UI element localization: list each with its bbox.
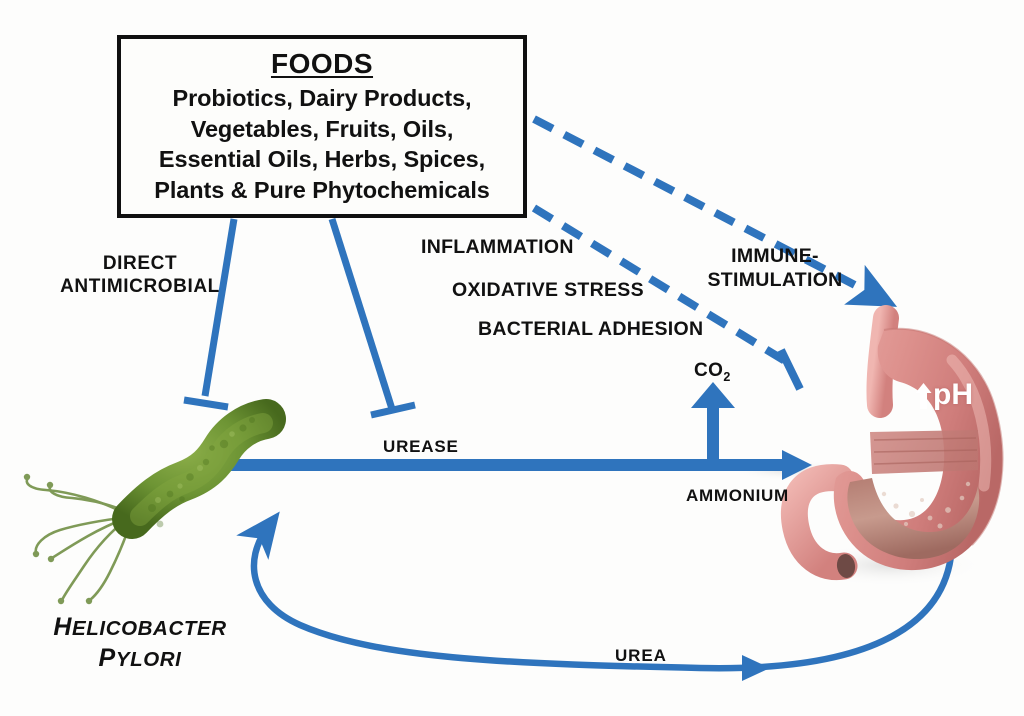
up-arrow-icon — [915, 383, 932, 409]
label-genus-initial: H — [53, 613, 72, 641]
diagram-canvas: FOODS Probiotics, Dairy Products, Vegeta… — [0, 0, 1024, 716]
connector-branch-to-co2 — [691, 382, 735, 468]
connector-foods-to-urease — [332, 219, 415, 415]
label-inflammation: INFLAMMATION — [421, 236, 574, 259]
label-ph-increase: pH — [915, 378, 973, 412]
label-immune-stimulation-line2: STIMULATION — [700, 269, 850, 293]
label-helicobacter-pylori: HELICOBACTER PYLORI — [25, 612, 255, 675]
label-direct-antimicrobial-line2: ANTIMICROBIAL — [50, 275, 230, 298]
foods-line-1: Probiotics, Dairy Products, — [154, 83, 489, 114]
foods-box: FOODS Probiotics, Dairy Products, Vegeta… — [117, 35, 527, 218]
label-direct-antimicrobial: DIRECT ANTIMICROBIAL — [50, 252, 230, 298]
label-co2: CO2 — [694, 360, 731, 384]
connector-bacterium-to-stomach — [218, 450, 812, 480]
stomach-illustration — [794, 318, 1002, 579]
label-species-rest: YLORI — [116, 648, 182, 671]
label-immune-stimulation-line1: IMMUNE- — [700, 245, 850, 269]
foods-list: Probiotics, Dairy Products, Vegetables, … — [154, 83, 489, 205]
foods-line-4: Plants & Pure Phytochemicals — [154, 175, 489, 206]
connector-foods-to-bacterium — [184, 219, 234, 407]
label-genus-rest: ELICOBACTER — [72, 617, 227, 640]
label-ammonium: AMMONIUM — [686, 486, 789, 506]
label-immune-stimulation: IMMUNE- STIMULATION — [700, 245, 850, 293]
label-direct-antimicrobial-line1: DIRECT — [50, 252, 230, 275]
foods-line-3: Essential Oils, Herbs, Spices, — [154, 144, 489, 175]
label-bacterial-adhesion: BACTERIAL ADHESION — [478, 318, 703, 341]
label-oxidative-stress: OXIDATIVE STRESS — [452, 279, 644, 302]
label-co2-text: CO — [694, 360, 723, 381]
foods-line-2: Vegetables, Fruits, Oils, — [154, 114, 489, 145]
foods-heading: FOODS — [271, 48, 373, 80]
label-ph-text: pH — [933, 378, 973, 412]
label-species-initial: P — [99, 644, 116, 672]
label-co2-subscript: 2 — [723, 370, 730, 384]
label-genus: HELICOBACTER — [25, 612, 255, 643]
label-urea: UREA — [615, 646, 667, 666]
label-species: PYLORI — [25, 643, 255, 674]
helicobacter-pylori-illustration — [24, 417, 266, 604]
label-urease: UREASE — [383, 437, 459, 457]
